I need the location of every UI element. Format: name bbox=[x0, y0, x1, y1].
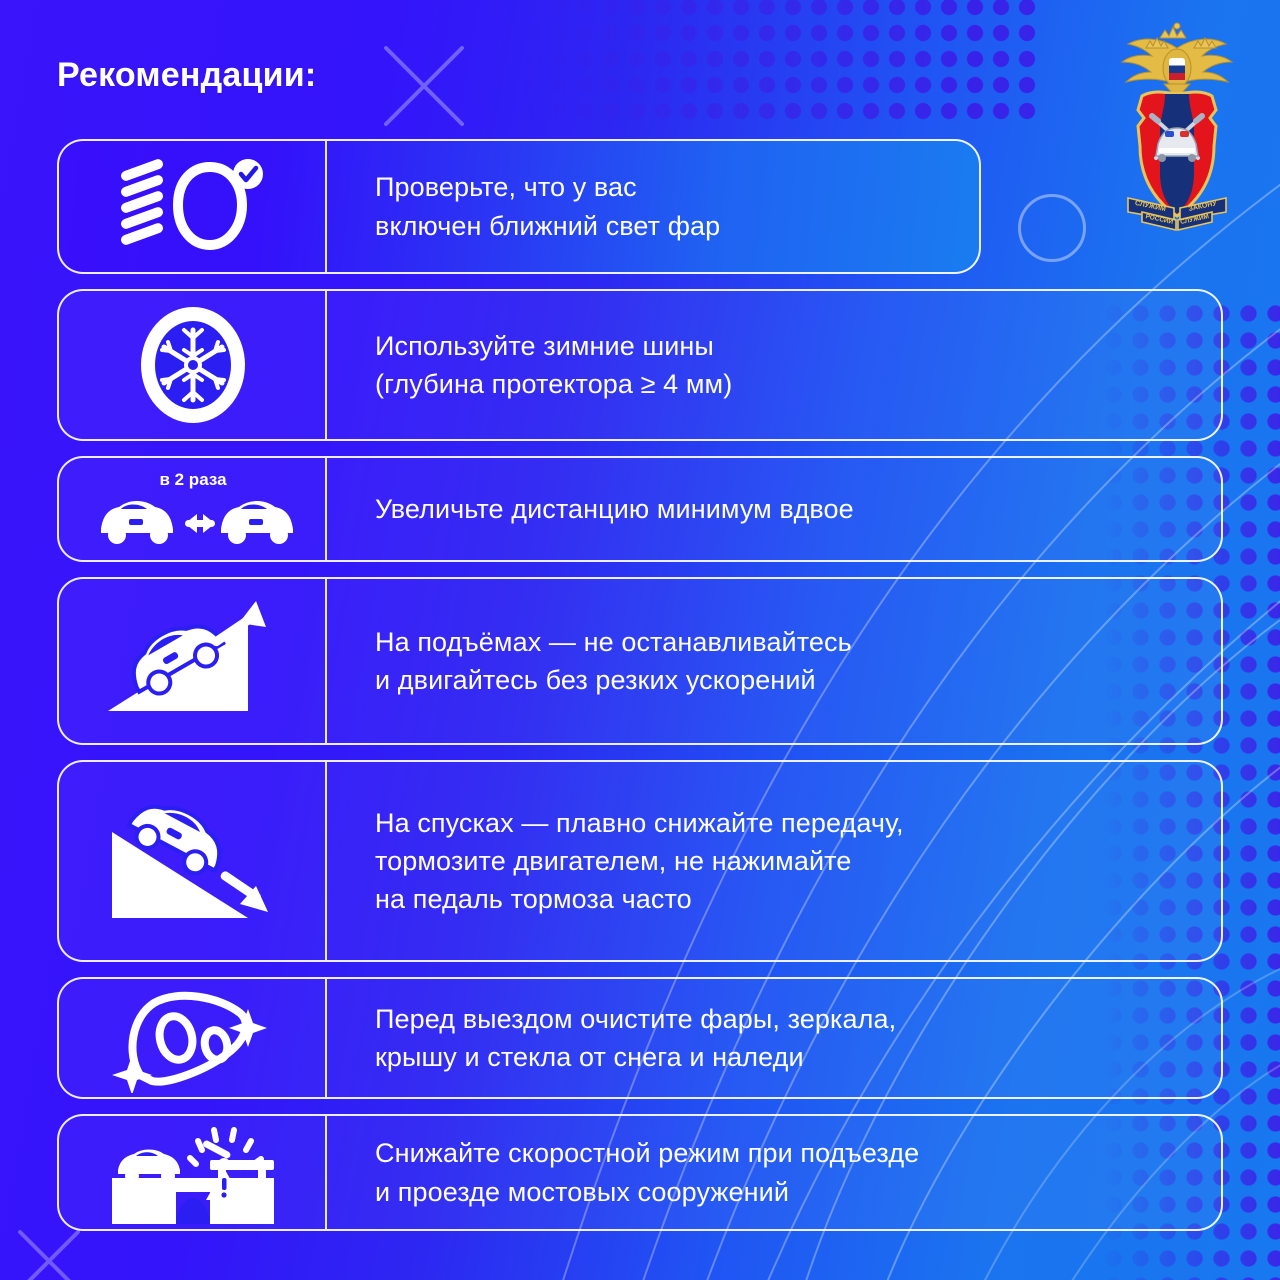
recommendations-list: Проверьте, что у вас включен ближний све… bbox=[57, 139, 1223, 1246]
recommendation-card-downhill[interactable]: На спусках — плавно снижайте передачу, т… bbox=[57, 760, 1223, 962]
text-cell: Перед выездом очистите фары, зеркала, кр… bbox=[327, 979, 1221, 1097]
winter-tire-icon bbox=[134, 304, 252, 426]
card-text: Используйте зимние шины (глубина протект… bbox=[375, 327, 732, 404]
card-text: Увеличьте дистанцию минимум вдвое bbox=[375, 490, 854, 528]
icon-cell: в 2 раза bbox=[59, 458, 327, 560]
icon-caption: в 2 раза bbox=[159, 470, 227, 489]
card-text: Проверьте, что у вас включен ближний све… bbox=[375, 168, 720, 245]
recommendation-card-winter-tires[interactable]: Используйте зимние шины (глубина протект… bbox=[57, 289, 1223, 441]
bridge-speed-warning-icon bbox=[98, 1120, 288, 1225]
icon-cell bbox=[59, 762, 327, 960]
icon-cell bbox=[59, 291, 327, 439]
check-badge bbox=[233, 159, 263, 189]
text-cell: На подъёмах — не останавливайтесь и двиг… bbox=[327, 579, 1221, 743]
two-cars-distance-icon: в 2 раза bbox=[93, 467, 293, 551]
halftone-dots-top bbox=[520, 0, 1040, 124]
recommendation-card-uphill[interactable]: На подъёмах — не останавливайтесь и двиг… bbox=[57, 577, 1223, 745]
card-text: Перед выездом очистите фары, зеркала, кр… bbox=[375, 1000, 896, 1077]
headlight-check-icon bbox=[118, 157, 268, 257]
card-text: На подъёмах — не останавливайтесь и двиг… bbox=[375, 623, 852, 700]
x-decoration-top bbox=[378, 40, 470, 132]
text-cell: Увеличьте дистанцию минимум вдвое bbox=[327, 458, 1221, 560]
card-text: Снижайте скоростной режим при подъезде и… bbox=[375, 1134, 919, 1211]
recommendation-card-clean-lights[interactable]: Перед выездом очистите фары, зеркала, кр… bbox=[57, 977, 1223, 1099]
icon-cell bbox=[59, 579, 327, 743]
card-text: На спусках — плавно снижайте передачу, т… bbox=[375, 804, 904, 919]
recommendation-card-distance[interactable]: в 2 раза bbox=[57, 456, 1223, 562]
text-cell: Снижайте скоростной режим при подъезде и… bbox=[327, 1116, 1221, 1229]
text-cell: На спусках — плавно снижайте передачу, т… bbox=[327, 762, 1221, 960]
page-title: Рекомендации: bbox=[57, 56, 316, 95]
poster-canvas: СЛУЖИМ ЗАКОНУ РОССИИ СЛУЖИМ Рекомендации… bbox=[0, 0, 1280, 1280]
car-downhill-icon bbox=[98, 786, 288, 936]
icon-cell bbox=[59, 979, 327, 1097]
recommendation-card-bridges[interactable]: Снижайте скоростной режим при подъезде и… bbox=[57, 1114, 1223, 1231]
text-cell: Проверьте, что у вас включен ближний све… bbox=[327, 141, 979, 272]
car-uphill-icon bbox=[98, 597, 288, 725]
icon-cell bbox=[59, 141, 327, 272]
clean-headlight-sparkle-icon bbox=[108, 983, 278, 1093]
recommendation-card-headlights[interactable]: Проверьте, что у вас включен ближний све… bbox=[57, 139, 981, 274]
text-cell: Используйте зимние шины (глубина протект… bbox=[327, 291, 1221, 439]
icon-cell bbox=[59, 1116, 327, 1229]
